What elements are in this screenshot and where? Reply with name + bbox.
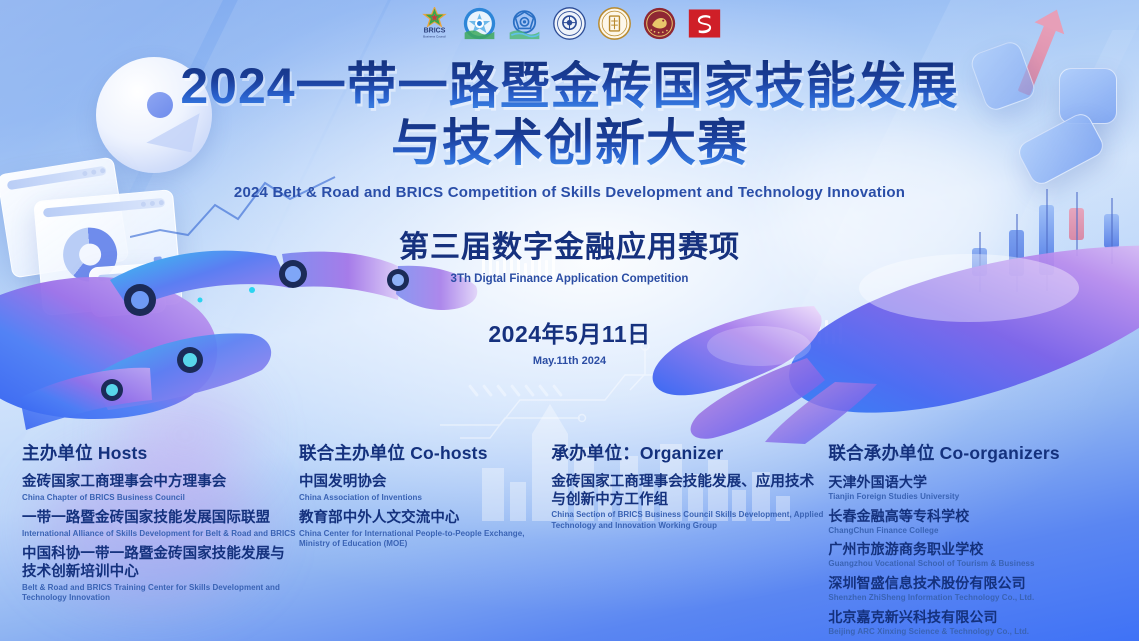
organization-name-cn: 深圳智盛信息技术股份有限公司 <box>828 575 1117 592</box>
column-heading: 承办单位：Organizer <box>551 440 828 465</box>
svg-text:BRICS: BRICS <box>424 28 446 35</box>
organization-name-cn: 中国科协一带一路暨金砖国家技能发展与技术创新培训中心 <box>22 546 299 581</box>
organization-entry: 金砖国家工商理事会中方理事会 China Chapter of BRICS Bu… <box>22 474 299 503</box>
main-title-line1: 2024一带一路暨金砖国家技能发展 <box>0 60 1139 113</box>
organization-name-cn: 金砖国家工商理事会中方理事会 <box>22 474 299 492</box>
svg-text:Business Council: Business Council <box>423 35 446 39</box>
organization-name-en: China Section of BRICS Business Council … <box>551 510 828 531</box>
subtitle-chinese: 第三届数字金融应用赛项 <box>0 222 1139 266</box>
brics-logo: BRICS Business Council <box>418 7 451 40</box>
organization-name-en: Belt & Road and BRICS Training Center fo… <box>22 583 299 604</box>
organization-entry: 中国科协一带一路暨金砖国家技能发展与技术创新培训中心 Belt & Road a… <box>22 546 299 603</box>
organization-name-en: Guangzhou Vocational School of Tourism &… <box>828 559 1117 570</box>
organization-name-cn: 广州市旅游商务职业学校 <box>828 541 1117 558</box>
organization-name-cn: 中国发明协会 <box>299 474 551 492</box>
organization-name-en: Shenzhen ZhiSheng Information Technology… <box>828 593 1117 604</box>
column-heading: 联合主办单位 Co-hosts <box>299 440 551 465</box>
event-date-chinese: 2024年5月11日 <box>0 315 1139 349</box>
event-date-english: May.11th 2024 <box>0 355 1139 367</box>
main-title-english: 2024 Belt & Road and BRICS Competition o… <box>0 184 1139 201</box>
credits-column-coorganizers: 联合承办单位 Co-organizers 天津外国语大学 Tianjin For… <box>828 426 1117 641</box>
organization-name-cn: 长春金融高等专科学校 <box>828 508 1117 525</box>
logo-row: BRICS Business Council <box>0 7 1139 40</box>
organization-name-en: Tianjin Foreign Studies University <box>828 492 1117 503</box>
alliance-logo <box>463 7 496 40</box>
organization-entry: 北京嘉克新兴科技有限公司 Beijing ARC Xinxing Science… <box>828 609 1117 638</box>
organization-name-cn: 教育部中外人文交流中心 <box>299 510 551 528</box>
organization-name-cn: 天津外国语大学 <box>828 474 1117 491</box>
credits-section: 主办单位 Hosts 金砖国家工商理事会中方理事会 China Chapter … <box>0 426 1139 641</box>
credits-column-hosts: 主办单位 Hosts 金砖国家工商理事会中方理事会 China Chapter … <box>22 426 299 641</box>
organization-name-en: China Center for International People-to… <box>299 529 551 550</box>
organization-name-cn: 北京嘉克新兴科技有限公司 <box>828 609 1117 626</box>
credits-column-organizer: 承办单位：Organizer 金砖国家工商理事会技能发展、应用技术与创新中方工作… <box>551 426 828 641</box>
organization-entry: 一带一路暨金砖国家技能发展国际联盟 International Alliance… <box>22 510 299 539</box>
title-block: 2024一带一路暨金砖国家技能发展 与技术创新大赛 2024 Belt & Ro… <box>0 60 1139 285</box>
organization-name-cn: 金砖国家工商理事会技能发展、应用技术与创新中方工作组 <box>551 474 828 509</box>
organization-name-en: China Chapter of BRICS Business Council <box>22 493 299 504</box>
council-logo <box>643 7 676 40</box>
column-heading: 联合承办单位 Co-organizers <box>828 440 1117 465</box>
credits-column-cohosts: 联合主办单位 Co-hosts 中国发明协会 China Association… <box>299 426 551 641</box>
company-logo <box>688 7 721 40</box>
organization-name-en: China Association of Inventions <box>299 493 551 504</box>
organization-name-en: ChangChun Finance College <box>828 526 1117 537</box>
organization-entry: 长春金融高等专科学校 ChangChun Finance College <box>828 508 1117 537</box>
organization-entry: 教育部中外人文交流中心 China Center for Internation… <box>299 510 551 550</box>
date-block: 2024年5月11日 May.11th 2024 <box>0 315 1139 367</box>
organization-entry: 广州市旅游商务职业学校 Guangzhou Vocational School … <box>828 541 1117 570</box>
column-heading: 主办单位 Hosts <box>22 440 299 465</box>
organization-name-en: Beijing ARC Xinxing Science & Technology… <box>828 627 1117 638</box>
organization-entry: 天津外国语大学 Tianjin Foreign Studies Universi… <box>828 474 1117 503</box>
main-title-line2: 与技术创新大赛 <box>0 117 1139 170</box>
organization-name-en: International Alliance of Skills Develop… <box>22 529 299 540</box>
association-logo <box>508 7 541 40</box>
institute-logo <box>553 7 586 40</box>
academy-logo <box>598 7 631 40</box>
organization-entry: 中国发明协会 China Association of Inventions <box>299 474 551 503</box>
subtitle-english: 3Th Digtal Finance Application Competiti… <box>0 273 1139 285</box>
organization-entry: 深圳智盛信息技术股份有限公司 Shenzhen ZhiSheng Informa… <box>828 575 1117 604</box>
organization-name-cn: 一带一路暨金砖国家技能发展国际联盟 <box>22 510 299 528</box>
poster-canvas: BRICS Business Council <box>0 0 1139 641</box>
organization-entry: 金砖国家工商理事会技能发展、应用技术与创新中方工作组 China Section… <box>551 474 828 531</box>
